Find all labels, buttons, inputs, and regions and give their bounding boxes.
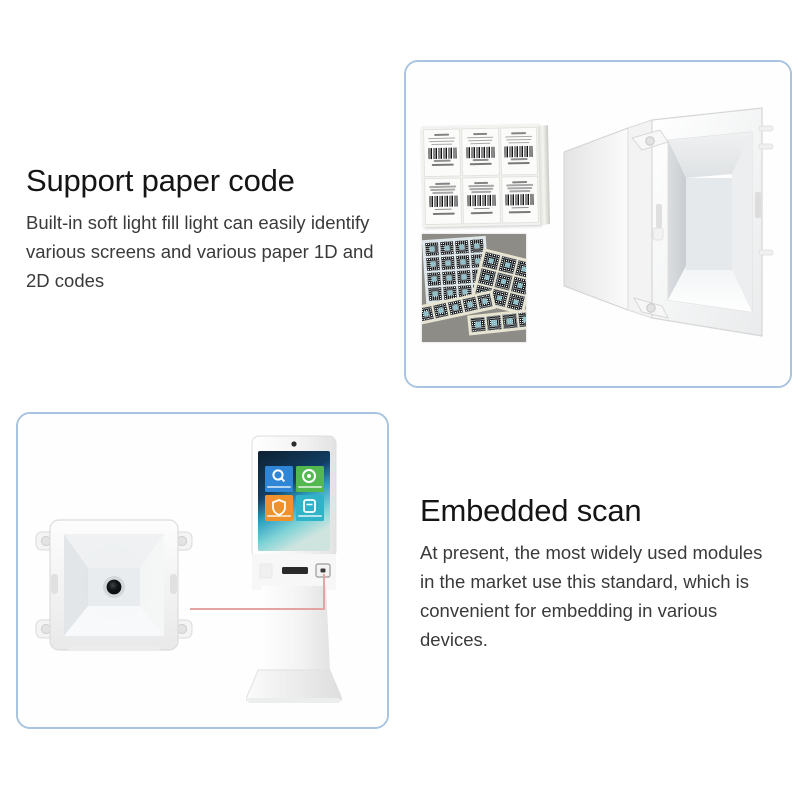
label-cell [423,128,461,176]
paper-code-heading: Support paper code [26,162,376,200]
qr-sticker-photo [422,234,526,342]
label-cell [424,177,462,225]
barcode-glyph [506,194,534,206]
barcode-label-sheet [421,125,541,227]
scan-window-glass [321,569,326,573]
nfc-pad [260,564,272,578]
callout-line-horizontal [190,608,325,610]
embedded-scan-body: At present, the most widely used modules… [420,538,772,654]
label-cell [500,127,538,175]
barcode-glyph [466,147,494,159]
embedded-scan-photo [18,414,387,727]
paper-code-body: Built-in soft light fill light can easil… [26,208,376,295]
card-slot [282,567,308,574]
barcode-glyph [429,196,457,208]
tile-document [296,495,324,521]
barcode-glyph [428,147,456,159]
embedded-scan-photo-panel [16,412,389,729]
paper-code-text-block: Support paper code Built-in soft light f… [26,162,376,295]
embedded-scan-text-block: Embedded scan At present, the most widel… [420,492,772,654]
kiosk-base [246,670,342,700]
label-cell [462,176,500,224]
scanner-module-front [34,510,194,660]
embedded-scan-heading: Embedded scan [420,492,772,530]
callout-line-vertical [323,574,325,610]
camera-dot [291,441,296,446]
barcode-glyph [505,146,533,158]
label-cell [461,128,499,176]
label-cell [501,175,539,223]
paper-code-photo-panel [404,60,792,388]
tile-shield [265,495,293,521]
lens [107,580,122,595]
self-service-kiosk [246,434,342,712]
scanner-module-angled [556,100,780,350]
barcode-glyph [467,195,495,207]
paper-code-photo [406,62,790,386]
